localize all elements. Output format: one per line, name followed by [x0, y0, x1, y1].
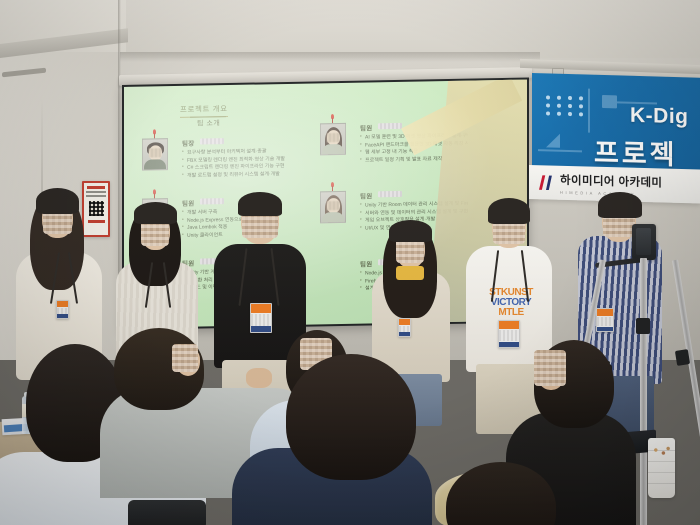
presenter-2-fringe	[134, 202, 177, 224]
badge-header	[57, 301, 68, 307]
circuit-trace	[538, 149, 582, 152]
academy-name: 하이미디어 아카데미	[560, 171, 662, 190]
banner-subheading: 프로젝	[594, 131, 678, 172]
poster-text-line	[86, 195, 106, 197]
qr-code-icon	[89, 201, 104, 216]
circuit-triangle-icon	[546, 133, 560, 147]
presenter-5-badge	[498, 320, 520, 348]
badge-header	[597, 309, 613, 316]
presenter-3-badge	[250, 303, 272, 333]
badge-name-redaction	[251, 314, 271, 326]
badge-header	[499, 321, 519, 329]
presenter-6-badge	[596, 308, 614, 332]
presenter-3-hair	[238, 192, 282, 216]
presenter-1-badge	[56, 300, 69, 319]
ceiling-shadow	[120, 52, 540, 62]
poster-footer-bar	[88, 220, 105, 223]
banner-heading: K-Dig	[630, 104, 689, 130]
circuit-dots-icon	[546, 95, 586, 116]
badge-footer	[57, 314, 68, 318]
tripod-leg-center	[640, 258, 647, 525]
badge-footer	[499, 342, 519, 347]
paper-cup-pattern	[652, 446, 671, 456]
audience-4-head	[286, 354, 416, 480]
presenter-5-hair	[488, 198, 530, 224]
poster-header-bar	[87, 186, 105, 189]
presenter-3-hands	[246, 368, 272, 388]
presenter-4-scarf	[396, 266, 424, 280]
badge-name-redaction	[499, 330, 519, 341]
presenter-1-fringe	[36, 188, 79, 214]
presenter-4-badge	[398, 318, 411, 337]
tee-line-3: MTLE	[482, 308, 540, 318]
circuit-trace	[588, 89, 590, 133]
tripod-collar	[636, 318, 650, 334]
presenter-4-fringe	[389, 220, 432, 242]
badge-header	[251, 304, 271, 313]
poster-text-line	[86, 191, 106, 193]
badge-footer	[251, 326, 271, 332]
badge-footer	[399, 332, 410, 336]
audience-5-face-blur	[534, 350, 566, 386]
event-banner: K-Dig 프로젝	[532, 73, 700, 176]
ceiling	[120, 0, 700, 58]
foreground-device	[128, 500, 206, 525]
chip-icon	[602, 95, 617, 108]
wall-qr-poster	[82, 181, 110, 237]
badge-name-redaction	[597, 317, 613, 326]
presenter-6-hair	[598, 192, 642, 218]
presenter-5-tee-graphic: STKUNST VICTORY MTLE	[482, 288, 540, 318]
badge-footer	[597, 327, 613, 331]
presentation-photo-scene: 프로젝트 개요 팀 소개 팀장 요구사항 분석부터 아키텍처 설계·	[0, 0, 700, 525]
badge-header	[399, 319, 410, 325]
himedia-logo-icon	[539, 174, 555, 191]
tripod-collar	[675, 349, 690, 366]
audience-2-face-blur	[172, 344, 198, 372]
tripod-phone	[636, 228, 651, 255]
